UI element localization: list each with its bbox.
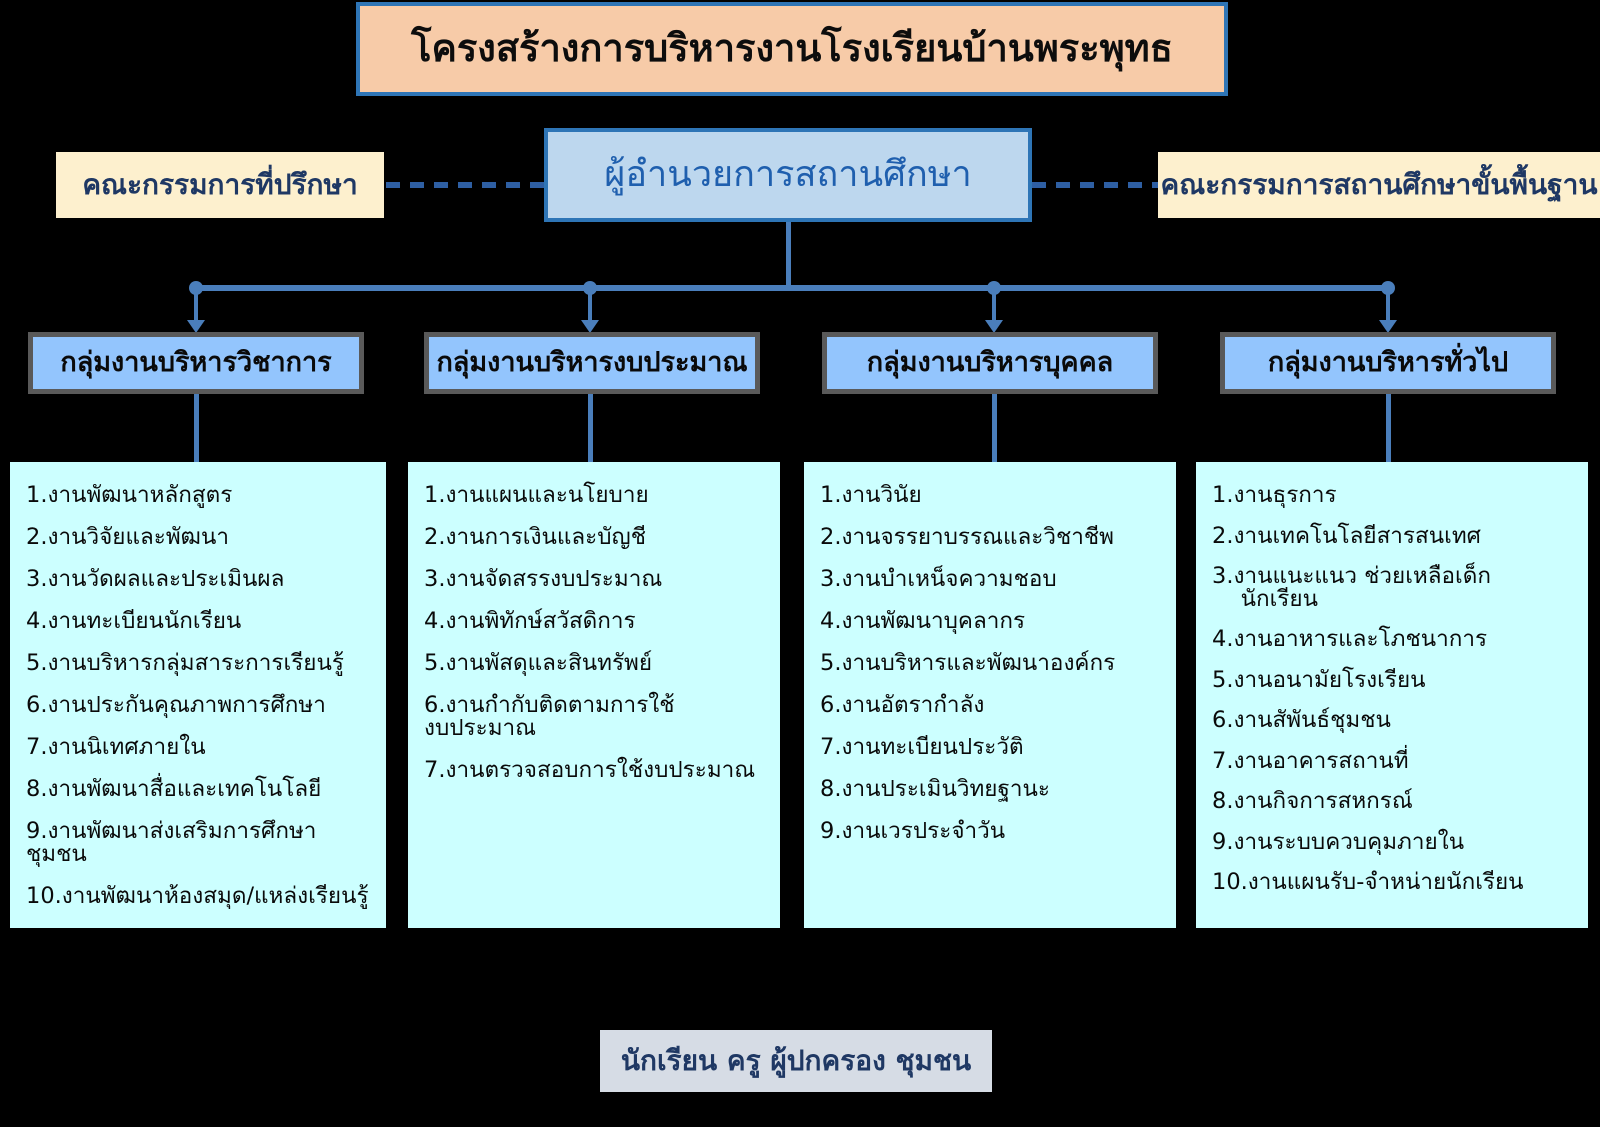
dashed-connector-right	[1032, 182, 1158, 188]
dept-stem-connector-4	[1386, 394, 1391, 462]
dept-header-academic: กลุ่มงานบริหารวิชาการ	[28, 332, 364, 394]
list-item: 2.งานการเงินและบัญชี	[424, 526, 766, 549]
task-list-budget: 1.งานแผนและนโยบาย2.งานการเงินและบัญชี3.ง…	[424, 484, 766, 781]
basic-education-committee-box: คณะกรรมการสถานศึกษาขั้นพื้นฐาน	[1158, 152, 1600, 218]
task-panel-budget: 1.งานแผนและนโยบาย2.งานการเงินและบัญชี3.ง…	[408, 462, 780, 928]
advisory-committee-box: คณะกรรมการที่ปรึกษา	[56, 152, 384, 218]
dept-header-personnel: กลุ่มงานบริหารบุคคล	[822, 332, 1158, 394]
chart-title: โครงสร้างการบริหารงานโรงเรียนบ้านพระพุทธ	[356, 2, 1228, 96]
branch-drop-1	[194, 288, 198, 322]
dept-header-general: กลุ่มงานบริหารทั่วไป	[1220, 332, 1556, 394]
dept-stem-connector-2	[588, 394, 593, 462]
list-item: 6.งานประกันคุณภาพการศึกษา	[26, 694, 372, 717]
list-item: 7.งานทะเบียนประวัติ	[820, 736, 1162, 759]
director-box: ผู้อำนวยการสถานศึกษา	[544, 128, 1032, 222]
task-list-personnel: 1.งานวินัย2.งานจรรยาบรรณและวิชาชีพ3.งานบ…	[820, 484, 1162, 843]
list-item: 1.งานพัฒนาหลักสูตร	[26, 484, 372, 507]
list-item: 1.งานวินัย	[820, 484, 1162, 507]
list-item: 6.งานกำกับติดตามการใช้ งบประมาณ	[424, 694, 766, 739]
dashed-connector-left	[386, 182, 544, 188]
list-item: 2.งานวิจัยและพัฒนา	[26, 526, 372, 549]
list-item: 5.งานพัสดุและสินทรัพย์	[424, 652, 766, 675]
task-list-academic: 1.งานพัฒนาหลักสูตร2.งานวิจัยและพัฒนา3.งา…	[26, 484, 372, 907]
task-panel-general: 1.งานธุรการ2.งานเทคโนโลยีสารสนเทศ3.งานแน…	[1196, 462, 1588, 928]
task-list-general: 1.งานธุรการ2.งานเทคโนโลยีสารสนเทศ3.งานแน…	[1212, 484, 1574, 894]
list-item: 4.งานอาหารและโภชนาการ	[1212, 628, 1574, 651]
branch-drop-3	[992, 288, 996, 322]
list-item: 10.งานพัฒนาห้องสมุด/แหล่งเรียนรู้	[26, 885, 372, 908]
task-panel-academic: 1.งานพัฒนาหลักสูตร2.งานวิจัยและพัฒนา3.งา…	[10, 462, 386, 928]
list-item: 7.งานตรวจสอบการใช้งบประมาณ	[424, 759, 766, 782]
list-item: 9.งานระบบควบคุมภายใน	[1212, 831, 1574, 854]
branch-drop-2	[588, 288, 592, 322]
list-item: 9.งานพัฒนาส่งเสริมการศึกษาชุมชน	[26, 820, 372, 865]
list-item: 2.งานเทคโนโลยีสารสนเทศ	[1212, 525, 1574, 548]
list-item: 2.งานจรรยาบรรณและวิชาชีพ	[820, 526, 1162, 549]
director-stem-connector	[786, 222, 791, 288]
list-item: 3.งานบำเหน็จความชอบ	[820, 568, 1162, 591]
list-item: 8.งานประเมินวิทยฐานะ	[820, 778, 1162, 801]
task-panel-personnel: 1.งานวินัย2.งานจรรยาบรรณและวิชาชีพ3.งานบ…	[804, 462, 1176, 928]
dept-stem-connector-3	[992, 394, 997, 462]
list-item: 6.งานสัพันธ์ชุมชน	[1212, 709, 1574, 732]
dept-stem-connector-1	[194, 394, 199, 462]
horizontal-bus-connector	[193, 285, 1390, 291]
list-item: 8.งานพัฒนาสื่อและเทคโนโลยี	[26, 778, 372, 801]
branch-drop-4	[1386, 288, 1390, 322]
list-item: 3.งานแนะแนว ช่วยเหลือเด็ก นักเรียน	[1212, 565, 1574, 610]
list-item: 5.งานบริหารและพัฒนาองค์กร	[820, 652, 1162, 675]
list-item: 1.งานธุรการ	[1212, 484, 1574, 507]
dept-header-budget: กลุ่มงานบริหารงบประมาณ	[424, 332, 760, 394]
list-item: 4.งานพัฒนาบุคลากร	[820, 610, 1162, 633]
list-item: 3.งานจัดสรรงบประมาณ	[424, 568, 766, 591]
list-item: 5.งานอนามัยโรงเรียน	[1212, 669, 1574, 692]
list-item: 4.งานพิทักษ์สวัสดิการ	[424, 610, 766, 633]
list-item: 1.งานแผนและนโยบาย	[424, 484, 766, 507]
list-item: 8.งานกิจการสหกรณ์	[1212, 790, 1574, 813]
list-item: 9.งานเวรประจำวัน	[820, 820, 1162, 843]
list-item: 4.งานทะเบียนนักเรียน	[26, 610, 372, 633]
list-item: 7.งานนิเทศภายใน	[26, 736, 372, 759]
list-item: 6.งานอัตรากำลัง	[820, 694, 1162, 717]
list-item: 7.งานอาคารสถานที่	[1212, 750, 1574, 773]
list-item: 5.งานบริหารกลุ่มสาระการเรียนรู้	[26, 652, 372, 675]
list-item: 10.งานแผนรับ-จำหน่ายนักเรียน	[1212, 871, 1574, 894]
list-item: 3.งานวัดผลและประเมินผล	[26, 568, 372, 591]
org-chart-canvas: โครงสร้างการบริหารงานโรงเรียนบ้านพระพุทธ…	[0, 0, 1600, 1127]
stakeholders-box: นักเรียน ครู ผู้ปกครอง ชุมชน	[600, 1030, 992, 1092]
